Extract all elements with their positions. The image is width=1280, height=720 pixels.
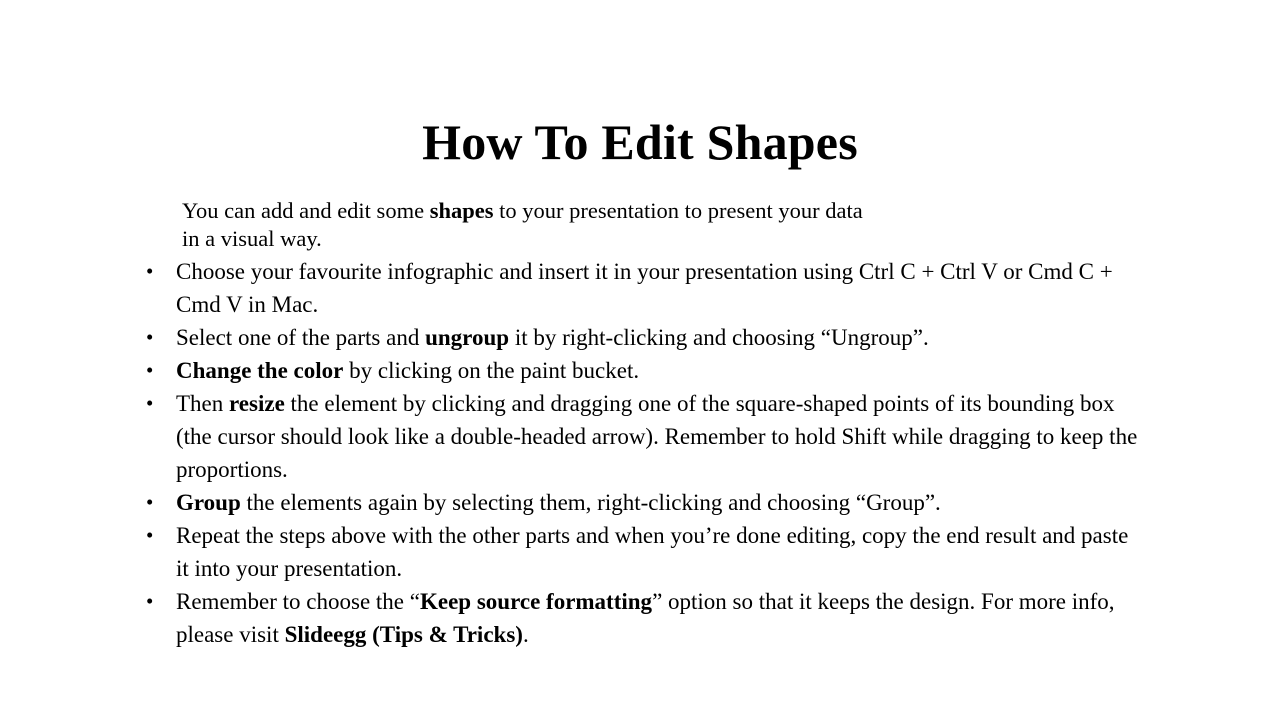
list-item-text: Choose your favourite infographic and in… bbox=[176, 259, 1113, 317]
list-item-span: Repeat the steps above with the other pa… bbox=[176, 523, 1128, 581]
list-item-span: . bbox=[523, 622, 529, 647]
list-item-span: Then bbox=[176, 391, 229, 416]
bullet-dot-icon: • bbox=[146, 354, 164, 387]
list-item-text: Repeat the steps above with the other pa… bbox=[176, 523, 1128, 581]
bullet-dot-icon: • bbox=[146, 255, 164, 288]
list-item-span: it by right-clicking and choosing “Ungro… bbox=[509, 325, 929, 350]
intro-text-part-1: You can add and edit some bbox=[182, 198, 430, 223]
list-item: •Then resize the element by clicking and… bbox=[146, 387, 1146, 486]
list-item-emphasis: Change the color bbox=[176, 358, 343, 383]
bullet-dot-icon: • bbox=[146, 585, 164, 618]
instruction-bullet-list: •Choose your favourite infographic and i… bbox=[146, 255, 1146, 651]
list-item-emphasis: Group bbox=[176, 490, 241, 515]
list-item: •Change the color by clicking on the pai… bbox=[146, 354, 1146, 387]
list-item-span: Select one of the parts and bbox=[176, 325, 425, 350]
list-item-emphasis: Keep source formatting bbox=[420, 589, 652, 614]
list-item: •Repeat the steps above with the other p… bbox=[146, 519, 1146, 585]
list-item-text: Group the elements again by selecting th… bbox=[176, 490, 941, 515]
list-item-emphasis: ungroup bbox=[425, 325, 509, 350]
list-item-text: Remember to choose the “Keep source form… bbox=[176, 589, 1115, 647]
intro-emphasis-shapes: shapes bbox=[430, 198, 494, 223]
list-item: •Select one of the parts and ungroup it … bbox=[146, 321, 1146, 354]
list-item-span: Choose your favourite infographic and in… bbox=[176, 259, 1113, 317]
list-item: •Choose your favourite infographic and i… bbox=[146, 255, 1146, 321]
list-item-span: the elements again by selecting them, ri… bbox=[241, 490, 941, 515]
list-item: •Remember to choose the “Keep source for… bbox=[146, 585, 1146, 651]
list-item-text: Change the color by clicking on the pain… bbox=[176, 358, 639, 383]
bullet-dot-icon: • bbox=[146, 519, 164, 552]
bullet-dot-icon: • bbox=[146, 486, 164, 519]
list-item: •Group the elements again by selecting t… bbox=[146, 486, 1146, 519]
slide-canvas: How To Edit Shapes You can add and edit … bbox=[0, 0, 1280, 720]
intro-paragraph: You can add and edit some shapes to your… bbox=[182, 197, 882, 253]
bullet-dot-icon: • bbox=[146, 321, 164, 354]
list-item-text: Select one of the parts and ungroup it b… bbox=[176, 325, 929, 350]
list-item-span: by clicking on the paint bucket. bbox=[343, 358, 639, 383]
page-title: How To Edit Shapes bbox=[0, 116, 1280, 169]
list-item-text: Then resize the element by clicking and … bbox=[176, 391, 1137, 482]
list-item-span: Remember to choose the “ bbox=[176, 589, 420, 614]
list-item-emphasis: resize bbox=[229, 391, 285, 416]
list-item-emphasis: Slideegg (Tips & Tricks) bbox=[285, 622, 523, 647]
bullet-dot-icon: • bbox=[146, 387, 164, 420]
list-item-span: the element by clicking and dragging one… bbox=[176, 391, 1137, 482]
